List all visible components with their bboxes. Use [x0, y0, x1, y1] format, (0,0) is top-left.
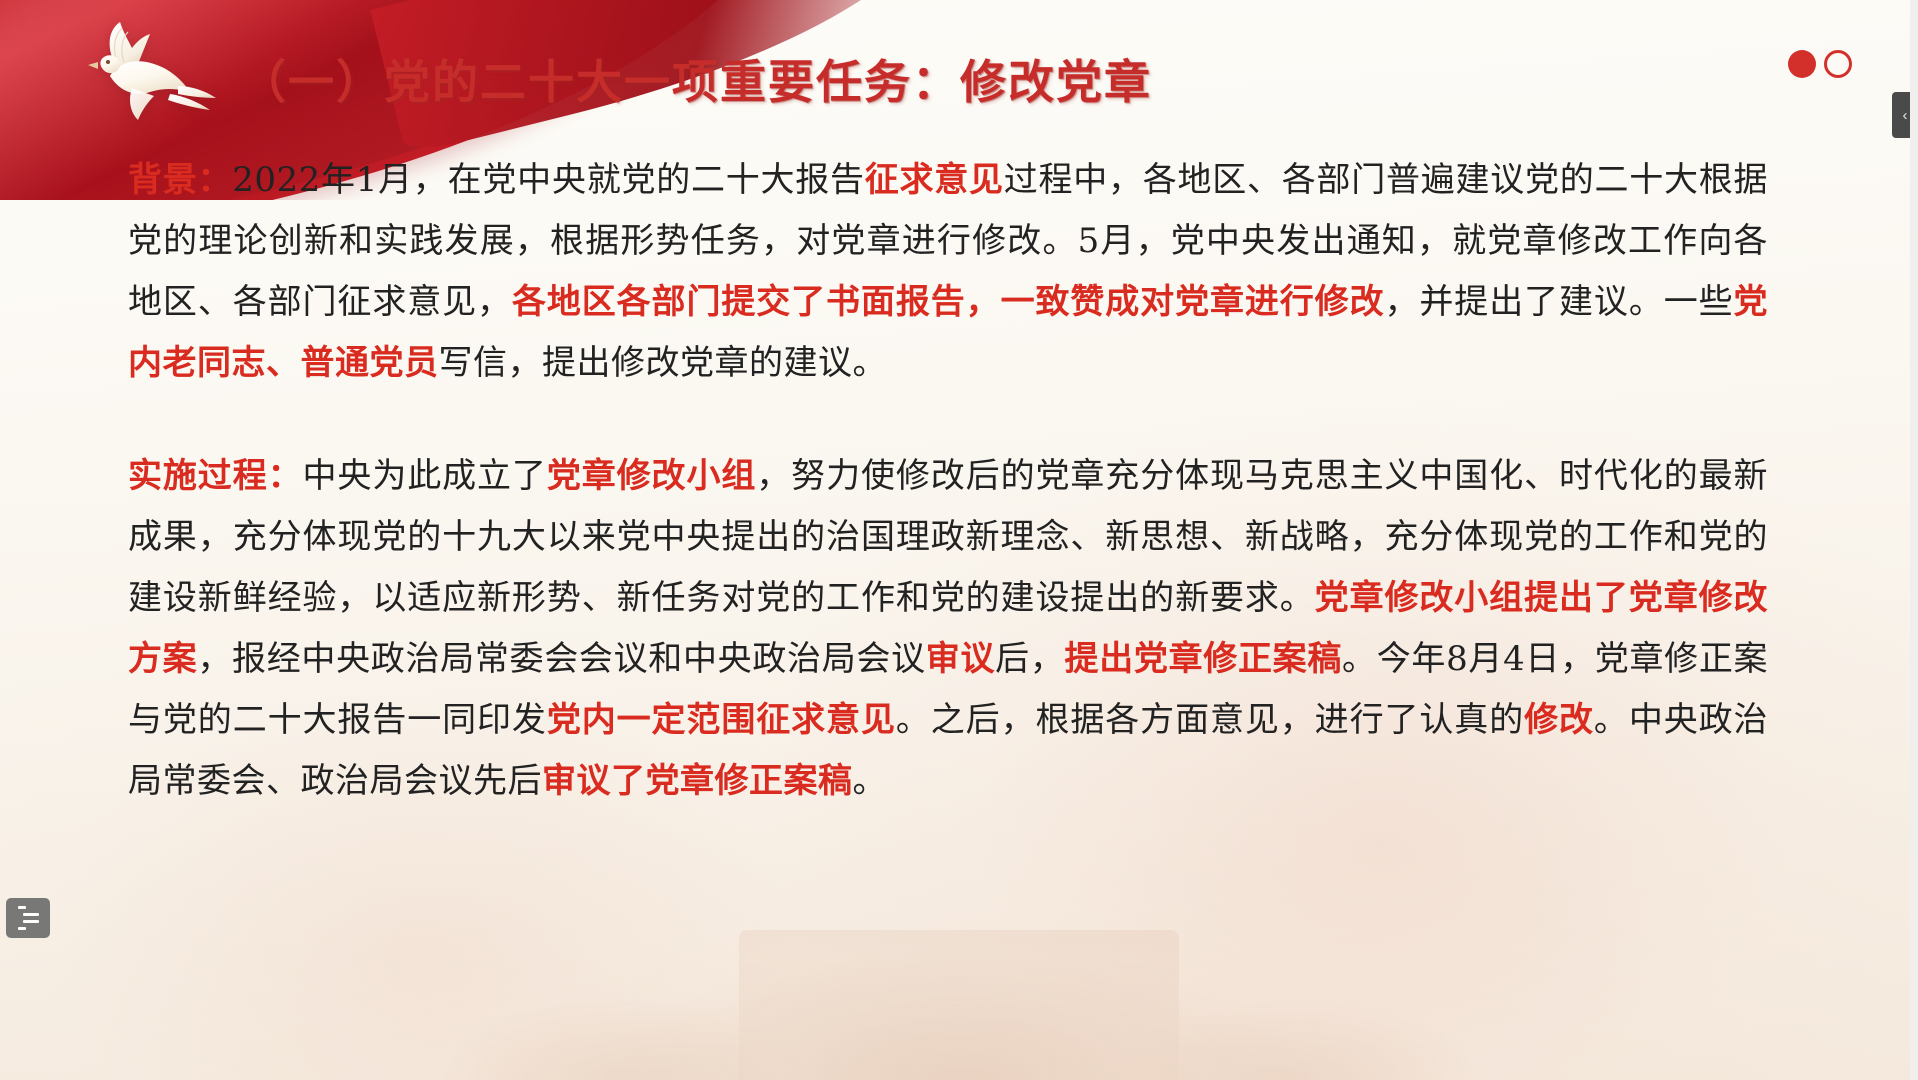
paragraph-label: 实施过程： — [128, 456, 303, 496]
highlighted-text: 修改 — [1524, 700, 1594, 740]
paragraph-implementation: 实施过程：中央为此成立了党章修改小组，努力使修改后的党章充分体现马克思主义中国化… — [128, 446, 1768, 812]
chevron-left-icon: ‹ — [1903, 107, 1908, 124]
highlighted-text: 审议 — [926, 639, 995, 679]
slide-body: 背景：2022年1月，在党中央就党的二十大报告征求意见过程中，各地区、各部门普遍… — [128, 150, 1768, 812]
body-text: ，报经中央政治局常委会会议和中央政治局会议 — [197, 639, 925, 679]
paragraph-label: 背景： — [128, 160, 232, 200]
paragraph-background: 背景：2022年1月，在党中央就党的二十大报告征求意见过程中，各地区、各部门普遍… — [128, 150, 1768, 394]
page-dot-active[interactable] — [1788, 50, 1816, 78]
highlighted-text: 党章修改小组 — [547, 456, 756, 496]
body-text: 。之后，根据各方面意见，进行了认真的 — [896, 700, 1524, 740]
body-text: 2022年1月，在党中央就党的二十大报告 — [232, 160, 864, 200]
body-text: 中央为此成立了 — [303, 456, 547, 496]
outline-toggle-button[interactable] — [6, 898, 50, 938]
vertical-scrollbar[interactable] — [1910, 0, 1918, 1080]
body-text: ，并提出了建议。一些 — [1385, 282, 1734, 322]
highlighted-text: 各地区各部门提交了书面报告，一致赞成对党章进行修改 — [512, 282, 1385, 322]
highlighted-text: 审议了党章修正案稿 — [542, 761, 853, 801]
outline-list-icon — [18, 906, 39, 930]
page-dot-inactive[interactable] — [1824, 50, 1852, 78]
highlighted-text: 党内一定范围征求意见 — [547, 700, 896, 740]
body-text: 写信，提出修改党章的建议。 — [439, 343, 888, 383]
highlighted-text: 征求意见 — [865, 160, 1004, 200]
body-text: 后， — [995, 639, 1064, 679]
presentation-slide: （一）党的二十大一项重要任务：修改党章 ‹ 背景：2022年1月，在党中央就党的… — [0, 0, 1918, 1080]
slide-title: （一）党的二十大一项重要任务：修改党章 — [240, 46, 1152, 112]
body-text: 。 — [853, 761, 888, 801]
white-dove-icon — [58, 14, 218, 134]
highlighted-text: 提出党章修正案稿 — [1065, 639, 1343, 679]
page-dots — [1788, 50, 1852, 78]
